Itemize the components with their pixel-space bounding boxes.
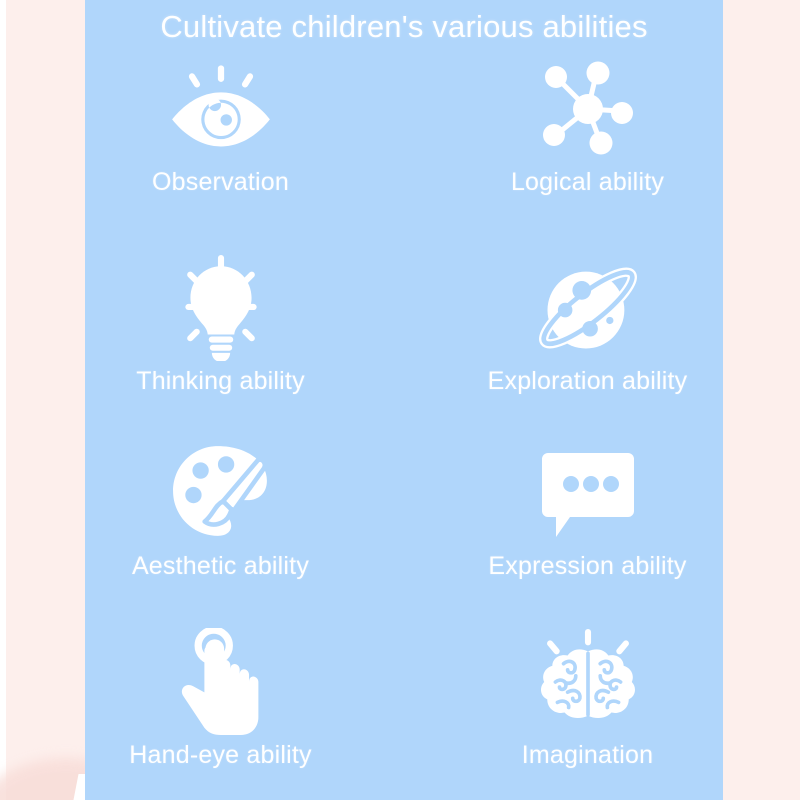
ability-label: Hand-eye ability (129, 739, 311, 771)
tap-hand-icon (162, 627, 280, 737)
ability-label: Aesthetic ability (132, 550, 309, 582)
ability-label: Logical ability (511, 166, 664, 198)
ability-item-logical-ability[interactable]: Logical ability (428, 50, 747, 237)
ability-item-aesthetic-ability[interactable]: Aesthetic ability (61, 424, 380, 611)
brain-icon (529, 627, 647, 737)
paint-palette-icon (162, 438, 280, 548)
planet-icon (529, 253, 647, 363)
poster-canvas: Cultivate children's various abilities O… (0, 0, 800, 800)
abilities-card: Cultivate children's various abilities O… (85, 0, 723, 800)
abilities-grid: Observation (85, 50, 723, 798)
ability-label: Exploration ability (488, 365, 688, 397)
ability-item-thinking-ability[interactable]: Thinking ability (61, 237, 380, 424)
network-nodes-icon (529, 54, 647, 164)
ability-item-hand-eye-ability[interactable]: Hand-eye ability (61, 611, 380, 798)
ability-item-exploration-ability[interactable]: Exploration ability (428, 237, 747, 424)
ability-item-observation[interactable]: Observation (61, 50, 380, 237)
ability-label: Imagination (522, 739, 653, 771)
ability-label: Observation (152, 166, 289, 198)
ability-label: Expression ability (488, 550, 686, 582)
lightbulb-icon (162, 253, 280, 363)
eye-icon (162, 54, 280, 164)
page-title: Cultivate children's various abilities (85, 6, 723, 48)
ability-item-expression-ability[interactable]: Expression ability (428, 424, 747, 611)
ability-item-imagination[interactable]: Imagination (428, 611, 747, 798)
speech-bubble-icon (529, 438, 647, 548)
ability-label: Thinking ability (136, 365, 305, 397)
